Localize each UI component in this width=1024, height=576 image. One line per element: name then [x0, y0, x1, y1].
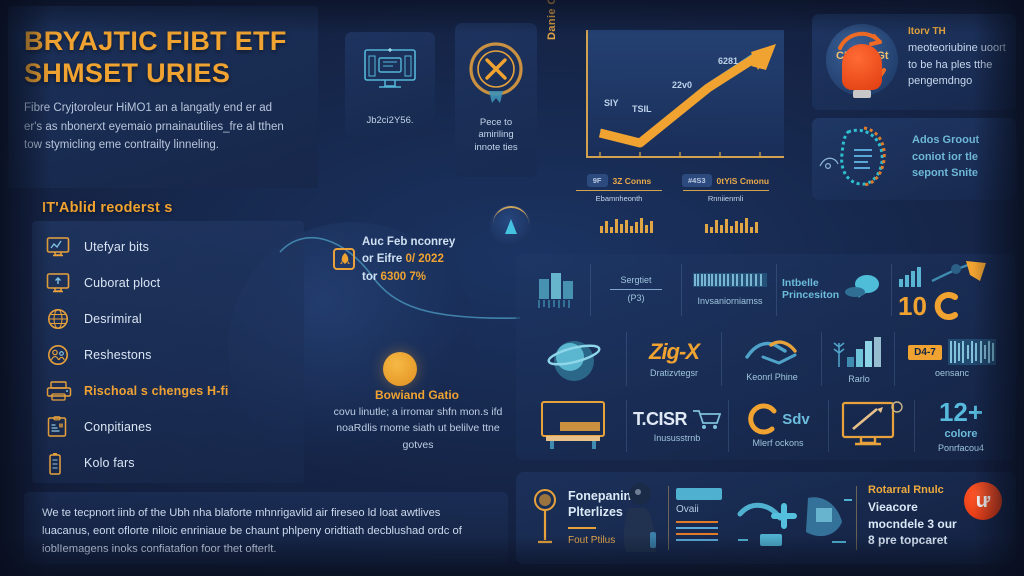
bars-arrow-icon — [898, 265, 924, 287]
grid-cell-caption: Sergtiet — [620, 275, 651, 286]
desktop-monitor-icon — [359, 46, 421, 98]
list-item[interactable]: Rischoal s chenges H-fi — [46, 373, 302, 409]
callout-line-3-prefix: tor — [362, 271, 377, 283]
bottom-band-panel: Fonepanine Plterlizes Fout Ptilus Ovaii — [516, 472, 1016, 564]
cart-scale-icon — [691, 408, 721, 430]
grid-cell[interactable]: 10 — [898, 258, 1004, 320]
callout-line-1: Auc Feb nconrey — [362, 234, 512, 251]
grid-cell[interactable]: Intbelle Princesiton — [782, 262, 886, 316]
list-item[interactable]: Desrimiral — [46, 301, 302, 337]
grid-cell[interactable]: Sergtiet (P3) — [596, 262, 676, 316]
grid-cell[interactable]: D4-7 oensanc — [900, 330, 1004, 388]
grid-cell[interactable]: 12+ colore Ponrfacou4 — [918, 398, 1004, 454]
grid-cell-caption: Dratizvtegsr — [650, 368, 698, 379]
grid-cell-caption: oensanc — [935, 368, 969, 379]
trophy-stand-icon — [532, 488, 558, 548]
chart-data-label: 6281 — [718, 56, 738, 66]
badge-card-caption: Jb2ci2Y56. — [345, 115, 435, 128]
legend-chip: #4S3 — [682, 174, 712, 187]
list-item-label: Rischoal s chenges H-fi — [84, 384, 228, 398]
legend-sublabel: Ebamnheonth — [596, 194, 643, 203]
page-title: BRYAJTIC FIBT ETF SHMSET URIES — [24, 26, 304, 90]
chart-y-axis-label: Danie Gonar — [546, 0, 558, 40]
badge-caption-line1: Pece to — [455, 117, 537, 130]
center-note-title: Bowiand Gatio — [332, 388, 502, 402]
bar-plant-icon — [831, 333, 887, 371]
list-item-label: Cuborat ploct — [84, 276, 160, 290]
chart-tick-bars-left — [600, 218, 653, 233]
callout-line-2: or Eifre 0/ 2022 — [362, 251, 512, 268]
list-item[interactable]: Utefyar bits — [46, 229, 302, 265]
grid-cell-caption: Ponrfacou4 — [938, 443, 984, 454]
grid-cell-logo: Sdv — [782, 411, 810, 428]
grid-cell[interactable] — [526, 398, 622, 454]
chart-tick-bars-right — [705, 218, 758, 233]
bottom-band-middle-label: Ovaii — [676, 504, 722, 515]
list-item[interactable]: Reshestons — [46, 337, 302, 373]
rocket-arrow-icon — [930, 259, 990, 287]
grid-cell[interactable]: Invsaniorniamss — [688, 262, 772, 316]
grid-cell-caption: Mlerf ockons — [752, 438, 803, 449]
center-callout-stat: Auc Feb nconrey or Eifre 0/ 2022 tor 630… — [362, 234, 512, 286]
list-item[interactable]: Kolo fars — [46, 445, 302, 481]
badge-caption-line2: amiriling — [455, 129, 537, 142]
list-item-label: Kolo fars — [84, 456, 135, 470]
infographic-canvas: BRYAJTIC FIBT ETF SHMSET URIES Fibre Cry… — [0, 0, 1024, 576]
page-title-line1: BRYAJTIC FIBT ETF — [24, 26, 304, 58]
monitor-chart-icon — [46, 236, 70, 258]
bb-right-line3: 8 pre topcaret — [868, 532, 992, 549]
grid-cell-caption-3: colore — [944, 428, 977, 440]
grid-cell-caption: Rarlo — [848, 374, 870, 385]
grid-cell[interactable]: T.CISR Inususstrnb — [630, 398, 724, 454]
grid-cell-caption: Invsaniorniamss — [697, 296, 762, 307]
grid-cell-number: 10 — [898, 293, 927, 319]
compass-ribbon-icon — [467, 41, 525, 111]
grid-cell-caption: Intbelle — [782, 277, 839, 289]
grid-cell-logo: T.CISR — [633, 409, 687, 430]
up-arrow-circle-icon — [490, 205, 532, 247]
doc-line-3: sepont Snite — [912, 165, 1010, 182]
doc-line-2: coniot ior tle — [912, 149, 1010, 166]
bottom-paragraph: We te tecpnort iinb of the Ubh nha blafo… — [24, 492, 508, 564]
right-card-document-text: Ados Groout coniot ior tle sepont Snite — [912, 132, 1010, 182]
chart-legend: 9F 3Z Conns Ebamnheonth #4S3 0tYiS Cmonu… — [576, 174, 796, 203]
printer-icon — [46, 380, 70, 402]
right-card-bulb-text: Itorv TH meoteoriubine uoort to be ha pl… — [908, 26, 1008, 90]
grid-cell[interactable] — [832, 398, 910, 454]
page-subtitle: Fibre Cryjtoroleur HiMO1 an a langatly e… — [24, 99, 292, 155]
right-card-title: Itorv TH — [908, 26, 1008, 37]
grid-cell[interactable]: Rarlo — [826, 330, 892, 388]
rocket-badge-icon — [333, 248, 355, 270]
badge-caption-line3: innote ties — [455, 142, 537, 155]
callout-line-2-value: 0/ 2022 — [405, 253, 443, 265]
handshake-icon — [741, 335, 803, 369]
clipboard-icon — [46, 416, 70, 438]
qr-code-icon — [948, 339, 996, 365]
chart-data-label: 22v0 — [672, 80, 692, 90]
right-card-body: meoteoriubine uoort to be ha ples tthe p… — [908, 40, 1008, 90]
factory-icon — [535, 269, 579, 309]
battery-icon — [46, 452, 70, 474]
grid-cell-caption-2: Princesiton — [782, 289, 839, 301]
chart-plot-area: SIY TSIL 22v0 6281 — [586, 30, 784, 158]
power-badge-icon[interactable]: ư — [964, 482, 1002, 520]
planet-ring-icon — [543, 333, 605, 385]
people-badge-icon — [46, 344, 70, 366]
gauge-icon — [746, 403, 780, 435]
list-item[interactable]: Cuborat ploct — [46, 265, 302, 301]
page-title-line2: SHMSET URIES — [24, 58, 304, 90]
person-silhouette-icon — [616, 482, 666, 554]
grid-cell[interactable] — [526, 330, 622, 388]
grid-cell[interactable]: Zig-X Dratizvtegsr — [630, 330, 718, 388]
grid-cell[interactable]: Sdv Mlerf ockons — [732, 398, 824, 454]
badge-card-caption: Pece to amiriling innote ties — [455, 117, 537, 155]
badge-card-monitor[interactable]: Jb2ci2Y56. — [345, 32, 435, 136]
network-plus-icon — [732, 480, 858, 556]
legend-chip: 9F — [587, 174, 608, 187]
grid-cell-caption: Keonrl Phine — [746, 372, 798, 383]
legend-label: 3Z Conns — [613, 176, 652, 186]
c-ring-icon — [933, 292, 963, 320]
doc-line-1: Ados Groout — [912, 132, 1010, 149]
chart-line-series — [588, 30, 786, 158]
monitor-pen-icon — [839, 401, 903, 451]
bulb-shape-icon — [842, 44, 882, 90]
grid-cell-tag: D4-7 — [908, 345, 942, 360]
callout-line-3: tor 6300 7% — [362, 269, 512, 286]
legend-label: 0tYiS Cmonu — [717, 176, 770, 186]
right-card-document[interactable]: Ados Groout coniot ior tle sepont Snite — [812, 118, 1016, 200]
dna-document-icon — [818, 124, 914, 194]
callout-line-3-value: 6300 7% — [381, 271, 426, 283]
grid-cell[interactable]: Keonrl Phine — [726, 330, 818, 388]
badge-card-compass[interactable]: Pece to amiriling innote ties — [455, 23, 537, 177]
bottom-band-doc-icon-group[interactable]: Ovaii — [676, 488, 722, 541]
chart-x-ticks — [586, 152, 790, 162]
list-item-label: Utefyar bits — [84, 240, 149, 254]
globe-badge-icon — [46, 308, 70, 330]
arrow-circle-triangle — [505, 219, 517, 234]
growth-chart: Danie Gonar SIY TSIL 22v0 6281 9F 3Z Con… — [560, 22, 800, 250]
list-item-label: Desrimiral — [84, 312, 142, 326]
grid-cell-caption: Inususstrnb — [654, 433, 701, 444]
bb-right-line2: mocndele 3 our — [868, 516, 992, 533]
icon-grid-panel: Sergtiet (P3) Invsaniorniamss Intbelle P… — [516, 254, 1016, 460]
speech-bubble-icon — [845, 274, 881, 304]
center-gold-badge-icon — [383, 352, 417, 386]
desktop-tray-icon — [536, 400, 612, 452]
legend-sublabel: Rnniienrnli — [708, 194, 743, 203]
grid-cell-logo: Zig-X — [649, 339, 699, 365]
grid-cell-caption-2: (P3) — [627, 293, 644, 304]
list-item-label: Conpitianes — [84, 420, 152, 434]
grid-cell[interactable] — [526, 262, 588, 316]
right-card-bulb[interactable]: CMN CrGt Itorv TH meoteoriubine uoort to… — [812, 14, 1016, 110]
monitor-upload-icon — [46, 272, 70, 294]
barcode-banner-icon — [693, 271, 767, 293]
chart-data-label: SIY — [604, 98, 619, 108]
chart-data-label: TSIL — [632, 104, 652, 114]
grid-cell-number: 12+ — [939, 399, 983, 425]
list-item[interactable]: Conpitianes — [46, 409, 302, 445]
list-item-label: Reshestons — [84, 348, 152, 362]
list-heading: IT'Ablid reoderst s — [42, 200, 173, 216]
center-note-body: covu linutle; a irromar shfn mon.s ifd n… — [320, 404, 516, 453]
callout-line-2-prefix: or Eifre — [362, 253, 402, 265]
